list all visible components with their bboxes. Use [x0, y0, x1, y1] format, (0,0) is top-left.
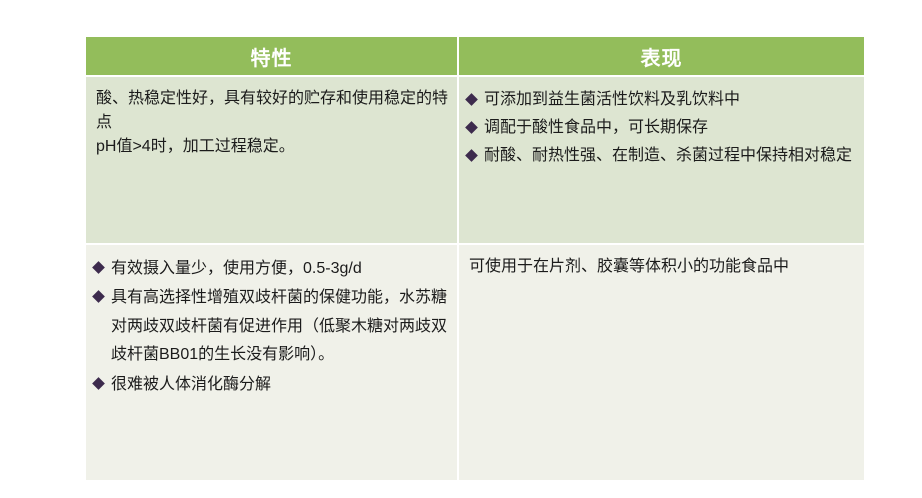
- diamond-bullet-icon: [92, 291, 105, 304]
- table-header: 特性 表现: [86, 37, 864, 75]
- table-row: 有效摄入量少，使用方便，0.5-3g/d 具有高选择性增殖双歧杆菌的保健功能，水…: [86, 245, 864, 480]
- list-item: 有效摄入量少，使用方便，0.5-3g/d: [94, 255, 451, 283]
- list-item-label: 耐酸、耐热性强、在制造、杀菌过程中保持相对稳定: [484, 147, 852, 164]
- performance-paragraph-row2: 可使用于在片剂、胶囊等体积小的功能食品中: [467, 255, 858, 279]
- diamond-bullet-icon: [465, 149, 478, 162]
- table-row: 酸、热稳定性好，具有较好的贮存和使用稳定的特点 pH值>4时，加工过程稳定。 可…: [86, 77, 864, 243]
- feature-paragraph-row1: 酸、热稳定性好，具有较好的贮存和使用稳定的特点 pH值>4时，加工过程稳定。: [94, 87, 451, 159]
- page-root: 特性 表现 酸、热稳定性好，具有较好的贮存和使用稳定的特点 pH值>4时，加工过…: [0, 0, 922, 498]
- feature-performance-table: 特性 表现 酸、热稳定性好，具有较好的贮存和使用稳定的特点 pH值>4时，加工过…: [84, 35, 862, 478]
- list-item: 很难被人体消化酶分解: [94, 371, 451, 399]
- list-item-label: 很难被人体消化酶分解: [111, 376, 271, 393]
- cell-performance-row2: 可使用于在片剂、胶囊等体积小的功能食品中: [459, 245, 864, 480]
- diamond-bullet-icon: [92, 261, 105, 274]
- table: 特性 表现 酸、热稳定性好，具有较好的贮存和使用稳定的特点 pH值>4时，加工过…: [84, 35, 866, 482]
- list-item-label: 有效摄入量少，使用方便，0.5-3g/d: [111, 260, 362, 277]
- diamond-bullet-icon: [92, 377, 105, 390]
- cell-feature-row2: 有效摄入量少，使用方便，0.5-3g/d 具有高选择性增殖双歧杆菌的保健功能，水…: [86, 245, 457, 480]
- list-item: 可添加到益生菌活性饮料及乳饮料中: [467, 87, 858, 113]
- header-row: 特性 表现: [86, 37, 864, 75]
- column-header-feature: 特性: [86, 37, 457, 75]
- list-item-label: 调配于酸性食品中，可长期保存: [484, 119, 708, 136]
- list-item-label: 可添加到益生菌活性饮料及乳饮料中: [484, 91, 740, 108]
- column-header-performance: 表现: [459, 37, 864, 75]
- performance-bullet-list-row1: 可添加到益生菌活性饮料及乳饮料中 调配于酸性食品中，可长期保存 耐酸、耐热性强、…: [467, 87, 858, 169]
- table-body: 酸、热稳定性好，具有较好的贮存和使用稳定的特点 pH值>4时，加工过程稳定。 可…: [86, 77, 864, 480]
- list-item: 具有高选择性增殖双歧杆菌的保健功能，水苏糖对两歧双歧杆菌有促进作用（低聚木糖对两…: [94, 284, 451, 369]
- feature-bullet-list-row2: 有效摄入量少，使用方便，0.5-3g/d 具有高选择性增殖双歧杆菌的保健功能，水…: [94, 255, 451, 399]
- cell-performance-row1: 可添加到益生菌活性饮料及乳饮料中 调配于酸性食品中，可长期保存 耐酸、耐热性强、…: [459, 77, 864, 243]
- diamond-bullet-icon: [465, 121, 478, 134]
- list-item: 调配于酸性食品中，可长期保存: [467, 115, 858, 141]
- list-item-label: 具有高选择性增殖双歧杆菌的保健功能，水苏糖对两歧双歧杆菌有促进作用（低聚木糖对两…: [111, 289, 447, 363]
- cell-feature-row1: 酸、热稳定性好，具有较好的贮存和使用稳定的特点 pH值>4时，加工过程稳定。: [86, 77, 457, 243]
- diamond-bullet-icon: [465, 93, 478, 106]
- list-item: 耐酸、耐热性强、在制造、杀菌过程中保持相对稳定: [467, 143, 858, 169]
